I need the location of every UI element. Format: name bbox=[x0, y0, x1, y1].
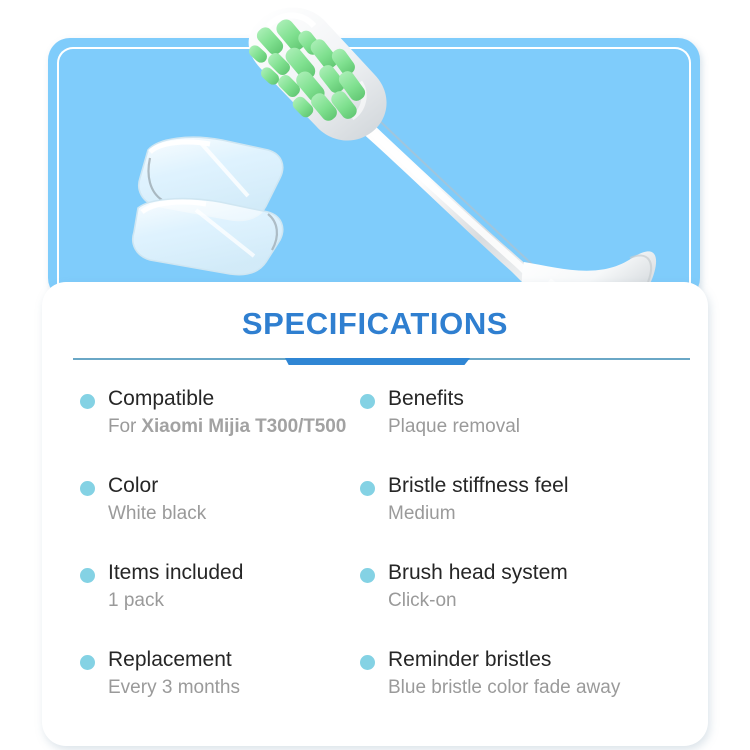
spec-item-bristle-stiffness: Bristle stiffness feel Medium bbox=[360, 472, 690, 559]
spec-label: Items included bbox=[108, 559, 380, 586]
product-spec-page: SPECIFICATIONS Compatible For Xiaomi Mij… bbox=[0, 0, 750, 750]
spec-item-replacement: Replacement Every 3 months bbox=[80, 646, 380, 733]
bullet-icon bbox=[80, 655, 95, 670]
spec-value-prefix: For bbox=[108, 416, 141, 437]
bullet-icon bbox=[360, 568, 375, 583]
spec-label: Compatible bbox=[108, 385, 380, 412]
spec-value: Plaque removal bbox=[388, 415, 690, 439]
spec-value: Medium bbox=[388, 502, 690, 526]
spec-item-benefits: Benefits Plaque removal bbox=[360, 385, 690, 472]
bullet-icon bbox=[80, 568, 95, 583]
spec-item-reminder-bristles: Reminder bristles Blue bristle color fad… bbox=[360, 646, 690, 733]
bullet-icon bbox=[80, 481, 95, 496]
specifications-card: SPECIFICATIONS Compatible For Xiaomi Mij… bbox=[42, 282, 708, 746]
spec-value: Blue bristle color fade away bbox=[388, 676, 690, 700]
spec-label: Color bbox=[108, 472, 380, 499]
spec-value: Every 3 months bbox=[108, 676, 380, 700]
spec-item-brush-head-system: Brush head system Click-on bbox=[360, 559, 690, 646]
bullet-icon bbox=[360, 481, 375, 496]
spec-value: Click-on bbox=[388, 589, 690, 613]
spec-item-compatible: Compatible For Xiaomi Mijia T300/T500 bbox=[80, 385, 380, 472]
spec-column-left: Compatible For Xiaomi Mijia T300/T500 Co… bbox=[80, 385, 380, 733]
spec-label: Benefits bbox=[388, 385, 690, 412]
spec-value-model: Xiaomi Mijia T300/T500 bbox=[141, 416, 346, 437]
title-underline bbox=[73, 356, 690, 365]
hero-panel bbox=[48, 38, 700, 300]
spec-label: Replacement bbox=[108, 646, 380, 673]
specifications-grid: Compatible For Xiaomi Mijia T300/T500 Co… bbox=[42, 385, 708, 725]
bullet-icon bbox=[360, 394, 375, 409]
bullet-icon bbox=[360, 655, 375, 670]
spec-value: 1 pack bbox=[108, 589, 380, 613]
spec-label: Bristle stiffness feel bbox=[388, 472, 690, 499]
spec-item-items-included: Items included 1 pack bbox=[80, 559, 380, 646]
spec-value: White black bbox=[108, 502, 380, 526]
spec-item-color: Color White black bbox=[80, 472, 380, 559]
spec-value: For Xiaomi Mijia T300/T500 bbox=[108, 415, 380, 439]
title-underline-accent bbox=[285, 358, 470, 365]
page-title: SPECIFICATIONS bbox=[42, 306, 708, 342]
bullet-icon bbox=[80, 394, 95, 409]
spec-label: Reminder bristles bbox=[388, 646, 690, 673]
hero-inner-border bbox=[57, 47, 691, 300]
spec-column-right: Benefits Plaque removal Bristle stiffnes… bbox=[360, 385, 690, 733]
spec-label: Brush head system bbox=[388, 559, 690, 586]
